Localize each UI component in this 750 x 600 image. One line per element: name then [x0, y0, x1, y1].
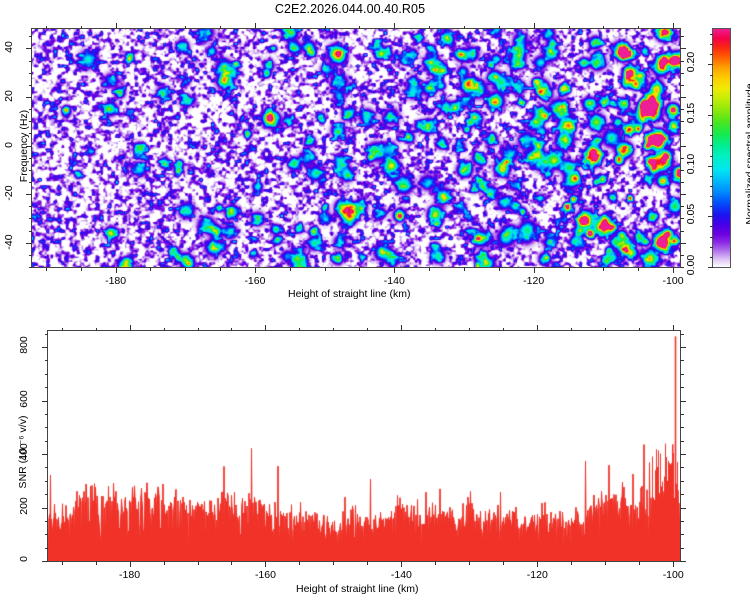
colorbar-tick [708, 64, 713, 65]
snr-y-tick-right [680, 334, 684, 335]
snr-y-tick-label: 800 [18, 323, 30, 367]
snr-y-tick [45, 534, 49, 535]
snr-x-tick-top [96, 328, 97, 332]
spectrogram-x-tick [46, 267, 47, 271]
snr-y-tick-right [680, 401, 686, 402]
spectrogram-x-tick [359, 267, 360, 271]
spectrogram-y-tick-right [680, 158, 684, 159]
snr-x-tick [96, 561, 97, 565]
colorbar-minor-tick [710, 125, 713, 126]
spectrogram-y-tick-right [680, 170, 684, 171]
spectrogram-x-tick-label: -120 [508, 275, 560, 287]
spectrogram-y-tick-right [680, 73, 684, 74]
spectrogram-x-tick-top [673, 23, 674, 29]
spectrogram-x-tick [150, 267, 151, 271]
snr-x-tick [469, 561, 470, 565]
spectrogram-x-tick-top [464, 26, 465, 30]
spectrogram-x-tick-label: -140 [368, 275, 420, 287]
snr-y-tick-right [680, 521, 684, 522]
snr-x-tick-top [673, 325, 674, 331]
snr-x-tick [231, 561, 232, 565]
snr-x-tick-top [299, 328, 300, 332]
snr-y-tick [45, 387, 49, 388]
snr-x-axis-label: Height of straight line (km) [296, 583, 419, 595]
snr-y-tick [42, 347, 48, 348]
snr-y-axis-label: SNR (10 ⁻⁶ v/v) [17, 397, 29, 507]
spectrogram-x-tick-top [603, 26, 604, 30]
spectrogram-y-tick [29, 218, 33, 219]
snr-x-tick [265, 561, 266, 567]
colorbar-minor-tick [710, 95, 713, 96]
snr-y-tick-right [680, 561, 686, 562]
snr-x-tick-top [469, 328, 470, 332]
colorbar-tick-label: 0.10 [685, 142, 697, 186]
spectrogram-x-tick-top [394, 23, 395, 29]
snr-x-tick [130, 561, 131, 567]
colorbar-gradient [713, 29, 730, 267]
colorbar-tick [708, 267, 713, 268]
snr-x-tick-top [401, 325, 402, 331]
snr-y-tick [45, 414, 49, 415]
snr-x-tick [333, 561, 334, 565]
spectrogram-x-tick-top [185, 26, 186, 30]
snr-y-tick [42, 508, 48, 509]
spectrogram-x-tick [255, 267, 256, 273]
spectrogram-x-tick-label: -160 [229, 275, 281, 287]
spectrogram-x-axis-label: Height of straight line (km) [288, 288, 411, 300]
colorbar-minor-tick [710, 54, 713, 55]
colorbar-minor-tick [710, 176, 713, 177]
colorbar-minor-tick [710, 105, 713, 106]
spectrogram-y-tick-right [680, 218, 684, 219]
spectrogram-y-tick-right [680, 85, 684, 86]
spectrogram-y-tick [29, 255, 33, 256]
spectrogram-x-tick [534, 267, 535, 273]
snr-y-tick-right [680, 494, 684, 495]
spectrogram-y-tick [29, 206, 33, 207]
snr-y-tick [45, 360, 49, 361]
colorbar-minor-tick [710, 34, 713, 35]
spectrogram-x-tick-top [150, 26, 151, 30]
snr-y-tick-right [680, 427, 684, 428]
spectrogram-y-tick [29, 61, 33, 62]
spectrogram-x-tick-top [638, 26, 639, 30]
colorbar-minor-tick [710, 135, 713, 136]
spectrogram-y-tick [29, 231, 33, 232]
spectrogram-x-tick-top [116, 23, 117, 29]
colorbar-tick [708, 115, 713, 116]
spectrogram-y-tick-label: 0 [3, 128, 15, 162]
snr-trace [48, 331, 680, 561]
snr-y-tick-right [680, 374, 684, 375]
spectrogram-x-tick [429, 267, 430, 271]
colorbar-minor-tick [710, 247, 713, 248]
snr-y-tick [42, 401, 48, 402]
colorbar-minor-tick [710, 186, 713, 187]
colorbar-minor-tick [710, 206, 713, 207]
spectrogram-y-tick-label: 40 [3, 30, 15, 64]
snr-x-tick [367, 561, 368, 565]
snr-y-tick [45, 427, 49, 428]
snr-x-tick-top [537, 325, 538, 331]
snr-x-tick [299, 561, 300, 565]
snr-y-tick [45, 467, 49, 468]
snr-y-tick [45, 494, 49, 495]
snr-x-tick-top [62, 328, 63, 332]
spectrogram-y-tick-right [680, 121, 684, 122]
snr-x-tick-top [503, 328, 504, 332]
snr-x-tick [571, 561, 572, 565]
snr-x-tick [503, 561, 504, 565]
spectrogram-y-tick [29, 36, 33, 37]
colorbar-minor-tick [710, 145, 713, 146]
colorbar [712, 28, 731, 268]
snr-x-tick [164, 561, 165, 565]
spectrogram-y-tick-right [680, 182, 684, 183]
colorbar-tick-label: 0.15 [685, 91, 697, 135]
snr-x-tick-label: -160 [239, 569, 291, 581]
spectrogram-x-tick [673, 267, 674, 273]
colorbar-minor-tick [710, 85, 713, 86]
spectrogram-y-tick [26, 243, 32, 244]
spectrogram-y-axis-label: Frequency (Hz) [18, 96, 30, 196]
spectrogram-x-tick-top [359, 26, 360, 30]
spectrogram-x-tick-top [429, 26, 430, 30]
colorbar-minor-tick [710, 237, 713, 238]
spectrogram-x-tick-top [325, 26, 326, 30]
colorbar-minor-tick [710, 75, 713, 76]
snr-y-tick [45, 521, 49, 522]
snr-y-tick-right [680, 508, 686, 509]
snr-y-tick-label: 0 [18, 537, 30, 581]
spectrogram-x-tick [394, 267, 395, 273]
snr-y-tick-right [680, 481, 684, 482]
spectrogram-x-tick [116, 267, 117, 273]
colorbar-minor-tick [710, 44, 713, 45]
spectrogram-x-tick [290, 267, 291, 271]
spectrogram-x-tick [185, 267, 186, 271]
colorbar-minor-tick [710, 156, 713, 157]
snr-plot-area[interactable] [47, 330, 681, 562]
colorbar-minor-tick [710, 226, 713, 227]
snr-y-tick-right [680, 347, 686, 348]
spectrogram-x-tick [638, 267, 639, 271]
spectrogram-x-tick-top [255, 23, 256, 29]
snr-x-tick [62, 561, 63, 565]
snr-x-tick-label: -120 [511, 569, 563, 581]
snr-y-tick [42, 561, 48, 562]
spectrogram-x-tick [220, 267, 221, 271]
snr-y-tick-right [680, 441, 684, 442]
spectrogram-x-tick [81, 267, 82, 271]
snr-y-tick [45, 334, 49, 335]
spectrogram-x-tick-label: -180 [90, 275, 142, 287]
colorbar-tick [708, 166, 713, 167]
page-title: C2E2.2026.044.00.40.R05 [0, 2, 700, 16]
snr-y-tick [45, 548, 49, 549]
snr-y-tick-right [680, 548, 684, 549]
snr-x-tick-top [231, 328, 232, 332]
spectrogram-y-tick-right [680, 206, 684, 207]
spectrogram-x-tick [499, 267, 500, 271]
colorbar-tick-label: 0.00 [685, 243, 697, 287]
snr-y-tick [45, 481, 49, 482]
colorbar-minor-tick [710, 257, 713, 258]
snr-x-tick-top [130, 325, 131, 331]
colorbar-minor-tick [710, 196, 713, 197]
snr-x-tick [673, 561, 674, 567]
spectrogram-y-tick [29, 73, 33, 74]
spectrogram-x-tick [569, 267, 570, 271]
spectrogram-x-tick-top [46, 26, 47, 30]
spectrogram-plot-area[interactable] [31, 28, 681, 268]
spectrogram-y-tick-right [680, 255, 684, 256]
snr-x-tick-top [198, 328, 199, 332]
spectrogram-y-tick-right [680, 61, 684, 62]
spectrogram-y-tick-right [680, 109, 684, 110]
snr-x-tick [435, 561, 436, 565]
spectrogram-x-tick-top [220, 26, 221, 30]
snr-x-tick [198, 561, 199, 565]
spectrogram-y-tick [26, 48, 32, 49]
snr-x-tick-top [333, 328, 334, 332]
snr-x-tick [537, 561, 538, 567]
snr-x-tick [605, 561, 606, 565]
colorbar-tick-label: 0.05 [685, 192, 697, 236]
snr-x-tick-label: -140 [375, 569, 427, 581]
spectrogram-y-tick [29, 267, 33, 268]
spectrogram-y-tick-right [680, 231, 684, 232]
colorbar-tick-label: 0.20 [685, 40, 697, 84]
spectrogram-x-tick [464, 267, 465, 271]
spectrogram-x-tick-top [290, 26, 291, 30]
snr-y-tick-right [680, 467, 684, 468]
spectrogram-x-tick-top [81, 26, 82, 30]
spectrogram-y-tick [29, 85, 33, 86]
snr-x-tick-label: -100 [647, 569, 699, 581]
snr-y-tick-right [680, 534, 684, 535]
snr-x-tick [401, 561, 402, 567]
spectrogram-x-tick [325, 267, 326, 271]
snr-y-tick-right [680, 454, 686, 455]
spectrogram-x-tick-top [569, 26, 570, 30]
snr-y-tick [42, 454, 48, 455]
spectrogram-x-tick-top [499, 26, 500, 30]
snr-y-tick [45, 374, 49, 375]
snr-x-tick-label: -180 [104, 569, 156, 581]
snr-x-tick [639, 561, 640, 565]
snr-y-tick-right [680, 360, 684, 361]
spectrogram-y-tick-right [680, 36, 684, 37]
snr-x-tick-top [435, 328, 436, 332]
spectrogram-y-tick-label: -20 [3, 176, 15, 210]
snr-y-tick [45, 441, 49, 442]
snr-x-tick-top [571, 328, 572, 332]
spectrogram-y-tick-label: -40 [3, 225, 15, 259]
colorbar-label: Normalized spectral amplitude [744, 64, 750, 244]
snr-x-tick-top [367, 328, 368, 332]
spectrogram-y-tick-right [680, 133, 684, 134]
spectrogram-x-tick-top [534, 23, 535, 29]
spectrogram-x-tick [603, 267, 604, 271]
snr-y-tick-right [680, 387, 684, 388]
spectrogram-y-tick-right [680, 267, 684, 268]
figure-root: C2E2.2026.044.00.40.R05 -180-160-140-120… [0, 0, 750, 600]
snr-x-tick-top [639, 328, 640, 332]
snr-x-tick-top [164, 328, 165, 332]
spectrogram-image [32, 29, 680, 267]
colorbar-tick [708, 216, 713, 217]
snr-y-tick-right [680, 414, 684, 415]
snr-x-tick-top [605, 328, 606, 332]
spectrogram-y-tick-label: 20 [3, 79, 15, 113]
snr-x-tick-top [265, 325, 266, 331]
